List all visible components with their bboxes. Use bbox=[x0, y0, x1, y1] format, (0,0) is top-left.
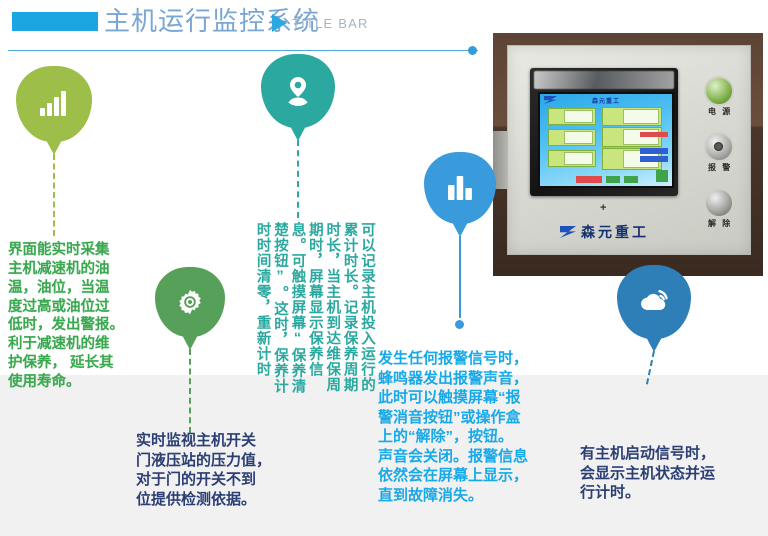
node-chart-pin[interactable] bbox=[424, 152, 496, 224]
screen-field bbox=[548, 129, 596, 146]
infographic-canvas: 主机运行监控系统 TITLE BAR 森元重工 bbox=[0, 0, 768, 536]
node-cloud-text: 有主机启动信号时， 会显示主机状态并运 行计时。 bbox=[580, 444, 768, 503]
node-signal-stem bbox=[53, 154, 55, 236]
screen-footer-button bbox=[606, 176, 620, 183]
pin-bulb bbox=[155, 267, 225, 337]
screen-button bbox=[640, 148, 668, 154]
header-divider-dot bbox=[468, 46, 477, 55]
pin-bulb bbox=[617, 265, 691, 339]
brand-logo-icon bbox=[560, 226, 576, 238]
header-divider bbox=[8, 50, 478, 51]
page-title: 主机运行监控系统 bbox=[104, 6, 320, 36]
pin-bulb bbox=[16, 66, 92, 142]
cloud-wifi-icon bbox=[638, 288, 670, 316]
screen-glare bbox=[534, 71, 674, 89]
power-indicator-label: 电 源 bbox=[708, 106, 732, 117]
pin-tip bbox=[645, 335, 663, 352]
panel-brand: 森元重工 bbox=[560, 222, 649, 242]
node-chart-stem bbox=[459, 236, 461, 318]
header-accent-bar bbox=[12, 12, 98, 31]
node-location-text: 可以记录主机投入运行的累计时长。记录保养周期时长，当主机到达维保周期时，屏幕显示… bbox=[229, 222, 375, 400]
bar-chart-icon bbox=[446, 175, 474, 201]
node-gear-pin[interactable] bbox=[155, 267, 225, 337]
header-subtitle: TITLE BAR bbox=[292, 16, 369, 31]
screen-field bbox=[548, 108, 596, 125]
keyhole-icon bbox=[714, 142, 723, 151]
pin-bulb bbox=[424, 152, 496, 224]
signal-bars-icon bbox=[39, 91, 69, 117]
node-location-pin[interactable] bbox=[261, 54, 335, 128]
panel-enclosure: 森元重工 + 森元重工 电 源 bbox=[507, 45, 751, 255]
node-gear-text: 实时监视主机开关 门液压站的压力值， 对于门的开关不到 位提供检测依据。 bbox=[136, 431, 316, 509]
hmi-screen: 森元重工 bbox=[538, 92, 674, 188]
screen-corner-icon bbox=[656, 170, 668, 182]
node-location-stem bbox=[297, 140, 299, 218]
node-chart-text: 发生任何报警信号时， 蜂鸣器发出报警声音， 此时可以触摸屏幕“报 警消音按钮”或… bbox=[378, 349, 574, 505]
screen-field bbox=[548, 150, 596, 167]
screen-field bbox=[602, 107, 662, 126]
brand-text: 森元重工 bbox=[581, 222, 649, 242]
node-signal-text: 界面能实时采集 主机减速机的油 温，油位，当温 度过高或油位过 低时，发出警报。… bbox=[8, 241, 140, 392]
screen-title: 森元重工 bbox=[540, 96, 672, 105]
alarm-key-label: 报 警 bbox=[708, 162, 732, 173]
node-chart-stem-dot bbox=[455, 320, 464, 329]
node-signal-pin[interactable] bbox=[16, 66, 92, 142]
screen-button bbox=[640, 156, 668, 162]
node-gear-stem bbox=[189, 349, 191, 433]
pin-tip bbox=[45, 138, 63, 155]
power-indicator[interactable] bbox=[704, 76, 734, 106]
panel-crosshair: + bbox=[600, 202, 606, 214]
screen-footer-button bbox=[576, 176, 602, 183]
pin-bulb bbox=[261, 54, 335, 128]
pin-tip bbox=[289, 124, 307, 141]
pin-tip bbox=[451, 220, 469, 237]
map-marker-icon bbox=[283, 75, 313, 107]
pin-tip bbox=[181, 333, 199, 350]
gear-icon bbox=[175, 287, 205, 317]
alarm-key-switch[interactable] bbox=[704, 132, 734, 162]
play-triangle-icon bbox=[272, 14, 287, 32]
screen-footer-button bbox=[624, 176, 638, 183]
release-button[interactable] bbox=[704, 188, 734, 218]
control-panel-photo: 森元重工 + 森元重工 电 源 bbox=[493, 33, 763, 276]
screen-field bbox=[602, 127, 662, 147]
screen-alarm-bar bbox=[640, 132, 668, 137]
node-cloud-pin[interactable] bbox=[617, 265, 691, 339]
release-button-label: 解 除 bbox=[708, 218, 732, 229]
